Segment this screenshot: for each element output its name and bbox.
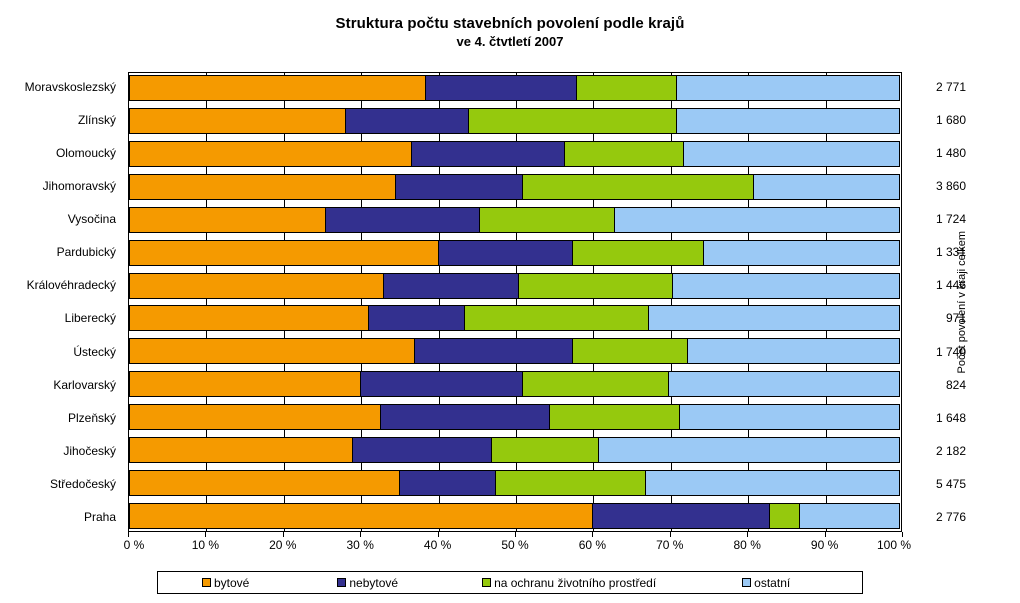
bar-segment-0 bbox=[129, 305, 369, 331]
bar-row bbox=[129, 141, 901, 167]
bar-segment-2 bbox=[549, 404, 681, 430]
legend-item[interactable]: nebytové bbox=[337, 576, 398, 590]
bar-segment-1 bbox=[592, 503, 770, 529]
y-axis-label: Moravskoslezský bbox=[0, 74, 122, 100]
bar-segment-0 bbox=[129, 108, 346, 134]
bar-segment-1 bbox=[414, 338, 573, 364]
bar-segment-3 bbox=[753, 174, 900, 200]
bar-segment-3 bbox=[614, 207, 900, 233]
y-axis-label: Středočeský bbox=[0, 471, 122, 497]
y-axis-labels: MoravskoslezskýZlínskýOlomouckýJihomorav… bbox=[0, 72, 122, 532]
x-tick-mark bbox=[902, 532, 903, 537]
bar-segment-3 bbox=[645, 470, 900, 496]
bar-segment-3 bbox=[679, 404, 900, 430]
bar-segment-1 bbox=[425, 75, 577, 101]
legend-swatch-icon bbox=[337, 578, 346, 587]
y-axis-label: Jihočeský bbox=[0, 438, 122, 464]
bar-row bbox=[129, 207, 901, 233]
bar-segment-3 bbox=[676, 75, 900, 101]
bar-row bbox=[129, 108, 901, 134]
bar-segment-1 bbox=[352, 437, 491, 463]
bar-row bbox=[129, 503, 901, 529]
bar-segment-3 bbox=[598, 437, 900, 463]
bar-segment-3 bbox=[672, 273, 900, 299]
legend-label: ostatní bbox=[754, 576, 790, 590]
legend-label: bytové bbox=[214, 576, 249, 590]
legend-item[interactable]: bytové bbox=[202, 576, 249, 590]
bar-row bbox=[129, 371, 901, 397]
bar-segment-0 bbox=[129, 240, 439, 266]
bar-segment-3 bbox=[703, 240, 900, 266]
x-tick-mark bbox=[825, 532, 826, 537]
x-tick-mark bbox=[670, 532, 671, 537]
bar-segment-0 bbox=[129, 174, 396, 200]
bar-segment-3 bbox=[683, 141, 900, 167]
x-tick-label: 0 % bbox=[124, 538, 145, 552]
y-axis-label: Plzeňský bbox=[0, 405, 122, 431]
bar-segment-2 bbox=[479, 207, 614, 233]
x-tick-mark bbox=[128, 532, 129, 537]
legend-item[interactable]: ostatní bbox=[742, 576, 790, 590]
bar-row bbox=[129, 174, 901, 200]
bars-layer bbox=[129, 73, 901, 531]
bar-row bbox=[129, 338, 901, 364]
legend-label: nebytové bbox=[349, 576, 398, 590]
bar-segment-0 bbox=[129, 503, 593, 529]
bar-segment-0 bbox=[129, 404, 381, 430]
chart-legend: bytovénebytovéna ochranu životního prost… bbox=[157, 571, 863, 594]
chart-container: Struktura počtu stavebních povolení podl… bbox=[0, 0, 1020, 603]
y-axis-label: Ústecký bbox=[0, 339, 122, 365]
bar-row bbox=[129, 75, 901, 101]
y-axis-label: Liberecký bbox=[0, 305, 122, 331]
bar-segment-2 bbox=[522, 371, 669, 397]
bar-segment-1 bbox=[411, 141, 566, 167]
legend-swatch-icon bbox=[482, 578, 491, 587]
bar-segment-1 bbox=[399, 470, 496, 496]
x-axis: 0 %10 %20 %30 %40 %50 %60 %70 %80 %90 %1… bbox=[128, 532, 902, 556]
bar-row bbox=[129, 305, 901, 331]
bar-segment-3 bbox=[687, 338, 900, 364]
bar-segment-2 bbox=[464, 305, 650, 331]
bar-segment-3 bbox=[799, 503, 900, 529]
bar-segment-2 bbox=[468, 108, 677, 134]
bar-segment-2 bbox=[491, 437, 599, 463]
right-axis-title-text: Počet povolení v kraji celkem bbox=[956, 231, 968, 373]
plot-area bbox=[128, 72, 902, 532]
bar-segment-1 bbox=[368, 305, 465, 331]
legend-label: na ochranu životního prostředí bbox=[494, 576, 656, 590]
bar-segment-2 bbox=[495, 470, 646, 496]
x-tick-label: 70 % bbox=[656, 538, 683, 552]
x-tick-mark bbox=[592, 532, 593, 537]
bar-segment-1 bbox=[360, 371, 523, 397]
x-tick-mark bbox=[515, 532, 516, 537]
bar-segment-2 bbox=[522, 174, 754, 200]
bar-segment-1 bbox=[380, 404, 550, 430]
bar-segment-0 bbox=[129, 338, 415, 364]
bar-segment-2 bbox=[564, 141, 684, 167]
x-tick-mark bbox=[283, 532, 284, 537]
y-axis-label: Olomoucký bbox=[0, 140, 122, 166]
bar-row bbox=[129, 273, 901, 299]
bar-row bbox=[129, 437, 901, 463]
legend-swatch-icon bbox=[742, 578, 751, 587]
x-tick-mark bbox=[205, 532, 206, 537]
chart-title-block: Struktura počtu stavebních povolení podl… bbox=[0, 14, 1020, 50]
y-axis-label: Pardubický bbox=[0, 239, 122, 265]
x-tick-label: 20 % bbox=[269, 538, 296, 552]
right-axis-title: Počet povolení v kraji celkem bbox=[950, 72, 974, 532]
bar-segment-0 bbox=[129, 141, 412, 167]
bar-segment-0 bbox=[129, 75, 426, 101]
y-axis-label: Zlínský bbox=[0, 107, 122, 133]
x-tick-label: 100 % bbox=[877, 538, 911, 552]
bar-segment-1 bbox=[438, 240, 573, 266]
x-tick-mark bbox=[438, 532, 439, 537]
bar-segment-3 bbox=[676, 108, 900, 134]
x-tick-label: 90 % bbox=[811, 538, 838, 552]
bar-segment-0 bbox=[129, 470, 400, 496]
chart-title: Struktura počtu stavebních povolení podl… bbox=[0, 14, 1020, 33]
x-tick-label: 50 % bbox=[501, 538, 528, 552]
bar-segment-1 bbox=[345, 108, 469, 134]
x-tick-label: 30 % bbox=[347, 538, 374, 552]
y-axis-label: Karlovarský bbox=[0, 372, 122, 398]
bar-row bbox=[129, 404, 901, 430]
y-axis-label: Vysočina bbox=[0, 206, 122, 232]
x-tick-mark bbox=[360, 532, 361, 537]
bar-segment-2 bbox=[518, 273, 673, 299]
bar-segment-1 bbox=[395, 174, 523, 200]
y-axis-label: Jihomoravský bbox=[0, 173, 122, 199]
bar-segment-2 bbox=[576, 75, 677, 101]
x-tick-label: 80 % bbox=[734, 538, 761, 552]
bar-segment-3 bbox=[668, 371, 900, 397]
legend-item[interactable]: na ochranu životního prostředí bbox=[482, 576, 656, 590]
x-tick-mark bbox=[747, 532, 748, 537]
bar-segment-3 bbox=[648, 305, 900, 331]
y-axis-label: Praha bbox=[0, 504, 122, 530]
x-tick-label: 40 % bbox=[424, 538, 451, 552]
bar-segment-0 bbox=[129, 437, 353, 463]
y-axis-label: Královéhradecký bbox=[0, 272, 122, 298]
bar-segment-2 bbox=[572, 338, 688, 364]
chart-subtitle: ve 4. čtvtletí 2007 bbox=[0, 33, 1020, 50]
bar-segment-0 bbox=[129, 207, 326, 233]
bar-segment-1 bbox=[383, 273, 518, 299]
bar-row bbox=[129, 240, 901, 266]
bar-segment-1 bbox=[325, 207, 480, 233]
bar-segment-2 bbox=[769, 503, 800, 529]
x-tick-label: 10 % bbox=[192, 538, 219, 552]
bar-row bbox=[129, 470, 901, 496]
bar-segment-2 bbox=[572, 240, 704, 266]
legend-swatch-icon bbox=[202, 578, 211, 587]
bar-segment-0 bbox=[129, 273, 384, 299]
bar-segment-0 bbox=[129, 371, 361, 397]
x-tick-label: 60 % bbox=[579, 538, 606, 552]
